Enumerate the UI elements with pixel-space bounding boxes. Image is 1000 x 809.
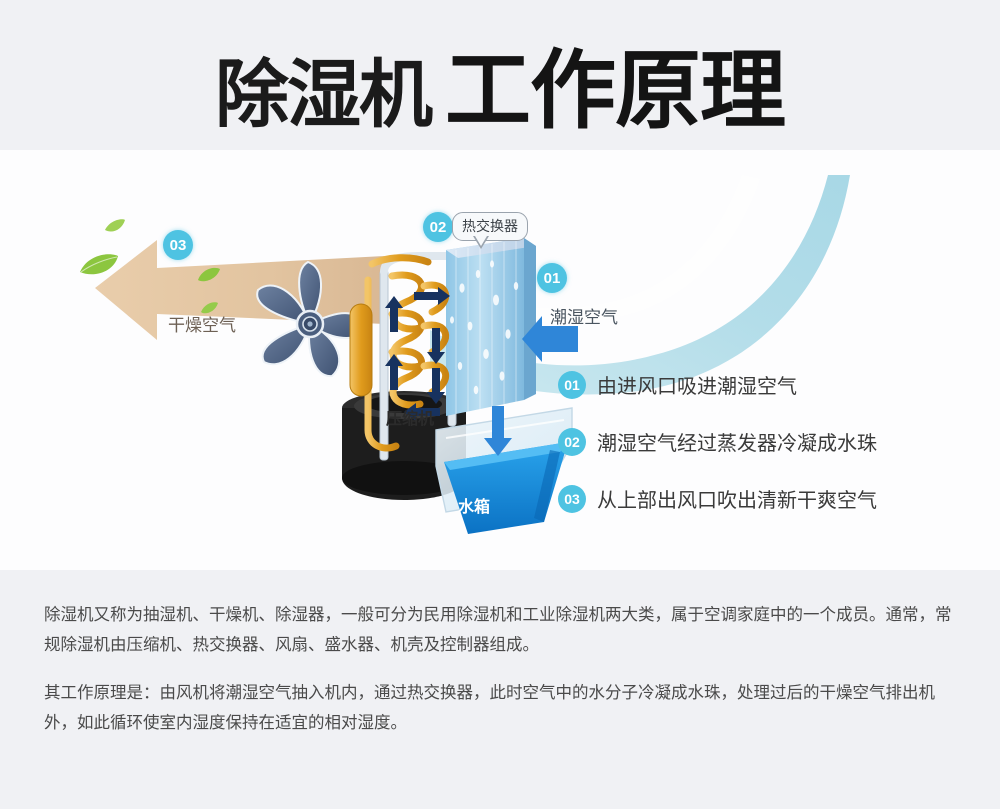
leaf-icon (196, 265, 222, 283)
legend-item: 03 从上部出风口吹出清新干爽空气 (558, 484, 958, 513)
page-title-part2: 工作原理 (445, 41, 785, 141)
legend-text-03: 从上部出风口吹出清新干爽空气 (597, 484, 877, 513)
legend-badge-03: 03 (558, 485, 586, 513)
diagram-badge-02: 02 (423, 212, 453, 242)
label-moist-air: 潮湿空气 (550, 303, 618, 328)
description-paragraph-2: 其工作原理是：由风机将潮湿空气抽入机内，通过热交换器，此时空气中的水分子冷凝成水… (44, 678, 956, 738)
label-dry-air: 干燥空气 (168, 311, 236, 336)
page-title: 除湿机工作原理 (0, 48, 1000, 134)
legend-item: 01 由进风口吸进潮湿空气 (558, 370, 958, 399)
callout-tail-icon (473, 236, 489, 249)
page-title-part1: 除湿机 (215, 52, 431, 138)
legend-badge-01: 01 (558, 371, 586, 399)
legend-badge-02: 02 (558, 428, 586, 456)
leaf-icon (78, 252, 120, 278)
diagram-badge-01: 01 (537, 263, 567, 293)
label-compressor: 压缩机 (386, 405, 434, 429)
description-paragraph-1: 除湿机又称为抽湿机、干燥机、除湿器，一般可分为民用除湿机和工业除湿机两大类，属于… (44, 600, 956, 660)
callout-heat-exchanger: 热交换器 (452, 212, 528, 241)
infographic-page: 除湿机工作原理 (0, 0, 1000, 809)
legend-item: 02 潮湿空气经过蒸发器冷凝成水珠 (558, 427, 958, 456)
diagram-badge-03: 03 (163, 230, 193, 260)
leaf-icon (104, 218, 126, 234)
legend-text-02: 潮湿空气经过蒸发器冷凝成水珠 (597, 427, 877, 456)
evaporator-fins-icon (446, 238, 536, 416)
label-water-tank: 水箱 (458, 493, 490, 517)
legend-text-01: 由进风口吸进潮湿空气 (597, 370, 797, 399)
legend-list: 01 由进风口吸进潮湿空气 02 潮湿空气经过蒸发器冷凝成水珠 03 从上部出风… (558, 370, 958, 541)
